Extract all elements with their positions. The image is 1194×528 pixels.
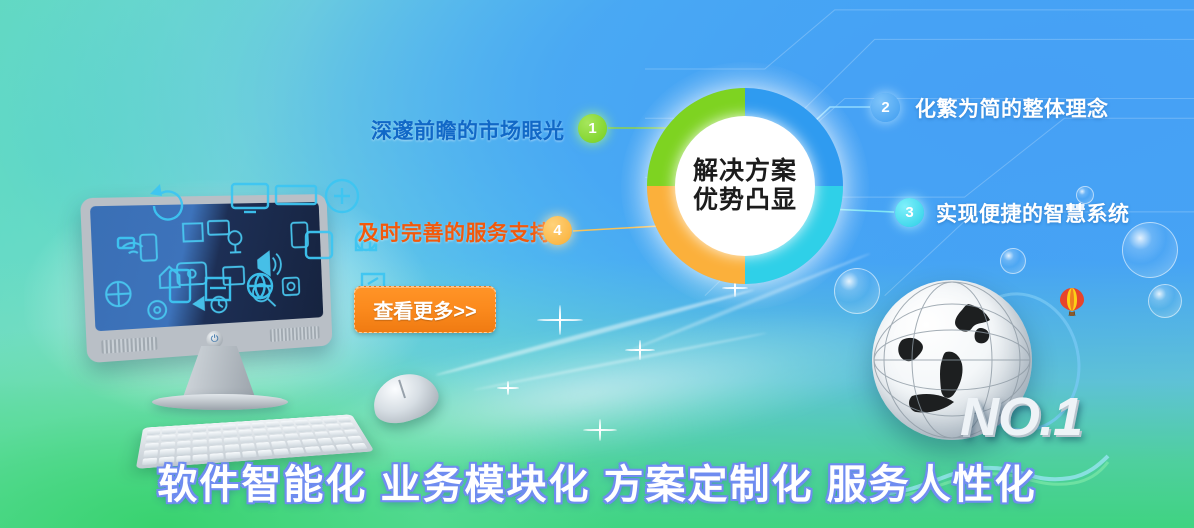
donut-center-label: 解决方案 优势凸显: [675, 116, 815, 256]
callout-badge-3[interactable]: 3: [895, 198, 924, 227]
hot-air-balloon-icon: [1059, 287, 1085, 321]
bubble-decoration: [1000, 248, 1026, 274]
slogan-text: 软件智能化 业务模块化 方案定制化 服务人性化: [0, 452, 1194, 510]
callout-label-1: 深邃前瞻的市场眼光: [371, 115, 565, 145]
floating-tech-icons: [110, 178, 390, 318]
callout-badge-2[interactable]: 2: [871, 93, 900, 122]
callout-label-3: 实现便捷的智慧系统: [936, 198, 1130, 228]
donut-chart: 解决方案 优势凸显: [647, 88, 843, 284]
center-title-line1: 解决方案: [693, 157, 797, 187]
callout-label-4: 及时完善的服务支持: [358, 217, 552, 247]
view-more-button[interactable]: 查看更多>>: [354, 286, 496, 333]
center-title-line2: 优势凸显: [693, 186, 797, 216]
bubble-decoration: [1122, 222, 1178, 278]
monitor-base: [152, 394, 288, 410]
monitor-speaker-right: [270, 326, 320, 342]
monitor-speaker-left: [101, 337, 157, 354]
power-icon: ⏻: [206, 330, 223, 348]
rank-text: NO.1: [960, 386, 1082, 448]
callout-badge-1[interactable]: 1: [578, 114, 607, 143]
bubble-decoration: [1148, 284, 1182, 318]
callout-badge-4[interactable]: 4: [543, 216, 572, 245]
callout-label-2: 化繁为简的整体理念: [915, 93, 1109, 123]
promo-banner: ⏻: [0, 0, 1194, 528]
